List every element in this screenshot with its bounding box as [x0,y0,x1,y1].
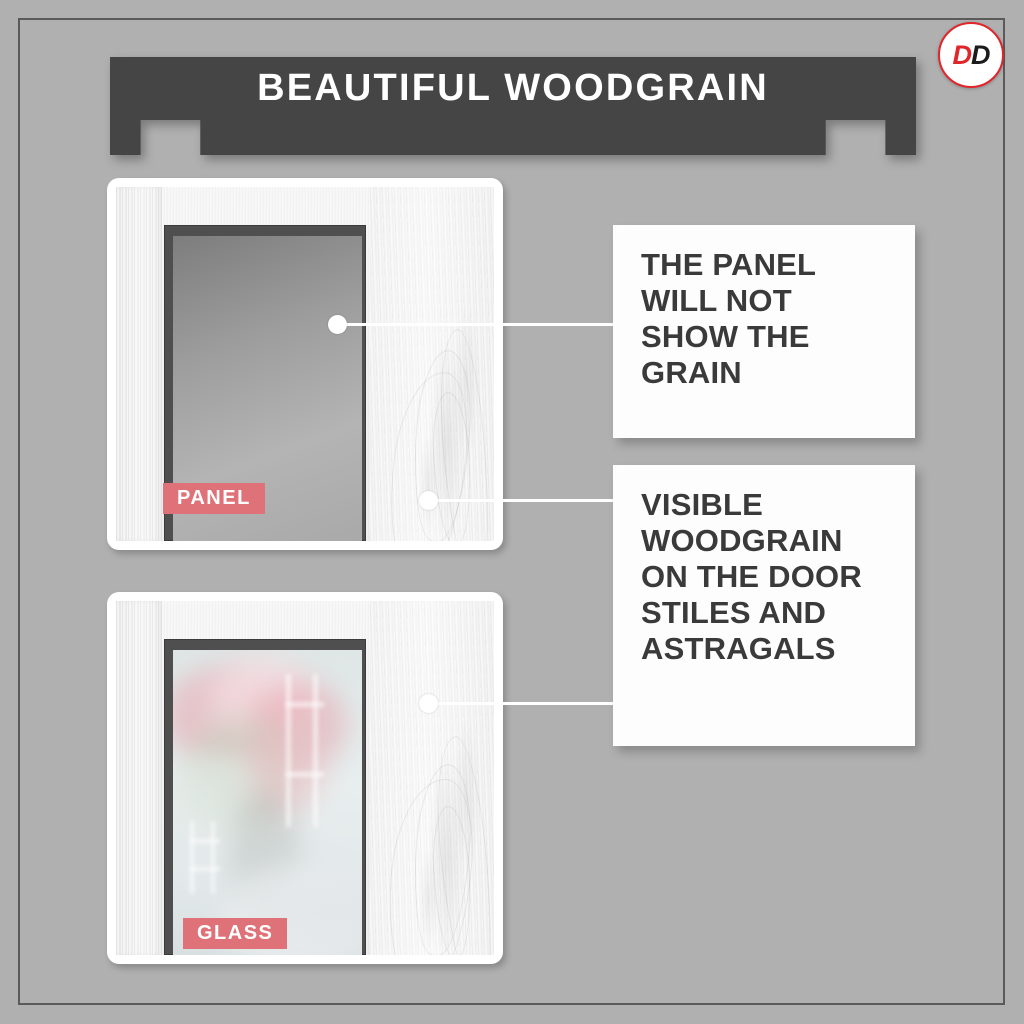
logo-letter-red: D [953,40,972,70]
window-reflection-mullion [313,674,318,827]
frosted-glass-face [173,650,362,955]
window-reflection-mullion [286,702,324,707]
window-reflection-mullion [190,867,220,871]
dd-logo[interactable]: DD [938,22,1004,88]
title-banner: BEAUTIFUL WOODGRAIN [110,57,916,157]
window-reflection-mullion [190,821,194,894]
door-moulding-left [116,187,162,541]
logo-text: DD [953,42,990,69]
door-stile-right-woodgrain [370,601,494,955]
panel-door-image: PANEL [116,187,494,541]
photo-card-panel[interactable]: PANEL [107,178,503,550]
callout-card-panel: THE PANEL WILL NOT SHOW THE GRAIN [613,225,915,438]
badge-panel: PANEL [163,483,265,514]
door-moulding-left [116,601,162,955]
leader-dot-stile-top [419,491,438,510]
infographic-canvas: DD BEAUTIFUL WOODGRAIN PANEL [0,0,1024,1024]
page-title: BEAUTIFUL WOODGRAIN [110,57,916,120]
woodgrain-curve [381,775,480,955]
window-reflection-mullion [211,821,215,894]
callout-card-woodgrain: VISIBLE WOODGRAIN ON THE DOOR STILES AND… [613,465,915,746]
window-reflection-mullion [190,839,220,843]
woodgrain-curve [428,734,494,955]
leader-line-stile-top [428,499,615,502]
badge-glass: GLASS [183,918,287,949]
woodgrain-curve [433,327,494,541]
leader-line-panel [337,323,615,326]
glass-aperture-inner [173,650,362,955]
woodgrain-curve [381,368,475,541]
door-stile-right-woodgrain [370,187,494,541]
photo-card-glass[interactable]: GLASS [107,592,503,964]
leader-dot-stile-bottom [419,694,438,713]
logo-letter-black: D [971,40,990,70]
window-reflection-mullion [286,674,291,827]
leader-dot-panel [328,315,347,334]
leader-line-stile-bottom [428,702,615,705]
glass-aperture [164,639,366,955]
glass-door-image: GLASS [116,601,494,955]
window-reflection-mullion [286,772,324,777]
